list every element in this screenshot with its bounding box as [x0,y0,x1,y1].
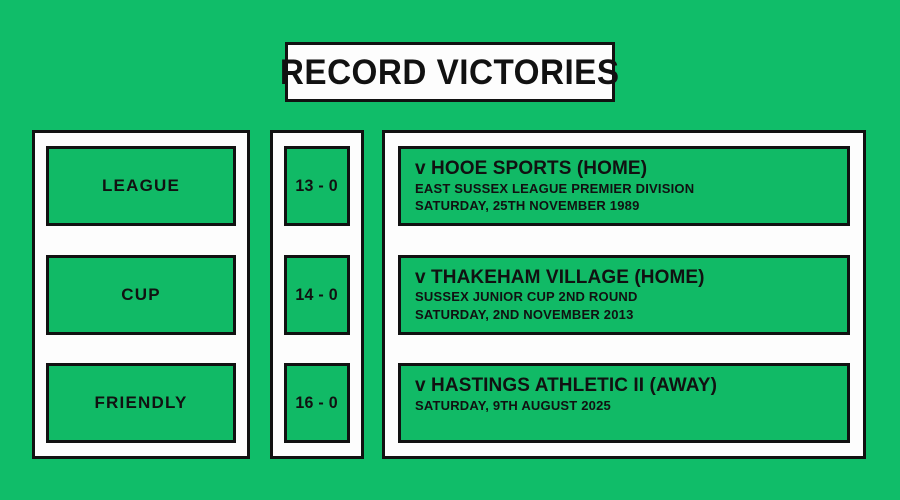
scores-panel: 13 - 0 14 - 0 16 - 0 [270,130,364,459]
score-label: 13 - 0 [296,176,339,196]
fixture-cell-cup: v THAKEHAM VILLAGE (HOME) SUSSEX JUNIOR … [398,255,850,335]
title-banner: RECORD VICTORIES [285,42,615,102]
score-cell-friendly: 16 - 0 [284,363,350,443]
categories-panel: LEAGUE CUP FRIENDLY [32,130,250,459]
fixture-opponent: v HOOE SPORTS (HOME) [415,158,833,180]
score-label: 16 - 0 [296,393,339,413]
fixtures-panel: v HOOE SPORTS (HOME) EAST SUSSEX LEAGUE … [382,130,866,459]
fixture-competition: EAST SUSSEX LEAGUE PREMIER DIVISION [415,180,833,198]
fixture-competition: SUSSEX JUNIOR CUP 2ND ROUND [415,288,833,306]
category-cell-cup: CUP [46,255,236,335]
category-cell-friendly: FRIENDLY [46,363,236,443]
category-label: CUP [121,285,161,305]
page-title: RECORD VICTORIES [280,55,620,90]
score-label: 14 - 0 [296,285,339,305]
fixture-opponent: v HASTINGS ATHLETIC II (AWAY) [415,375,833,397]
category-cell-league: LEAGUE [46,146,236,226]
fixture-date: SATURDAY, 9TH AUGUST 2025 [415,397,833,415]
fixture-opponent: v THAKEHAM VILLAGE (HOME) [415,267,833,289]
category-label: FRIENDLY [94,393,187,413]
fixture-cell-league: v HOOE SPORTS (HOME) EAST SUSSEX LEAGUE … [398,146,850,226]
score-cell-league: 13 - 0 [284,146,350,226]
fixture-cell-friendly: v HASTINGS ATHLETIC II (AWAY) SATURDAY, … [398,363,850,443]
fixture-date: SATURDAY, 2ND NOVEMBER 2013 [415,306,833,324]
fixture-date: SATURDAY, 25TH NOVEMBER 1989 [415,197,833,215]
category-label: LEAGUE [102,176,180,196]
score-cell-cup: 14 - 0 [284,255,350,335]
